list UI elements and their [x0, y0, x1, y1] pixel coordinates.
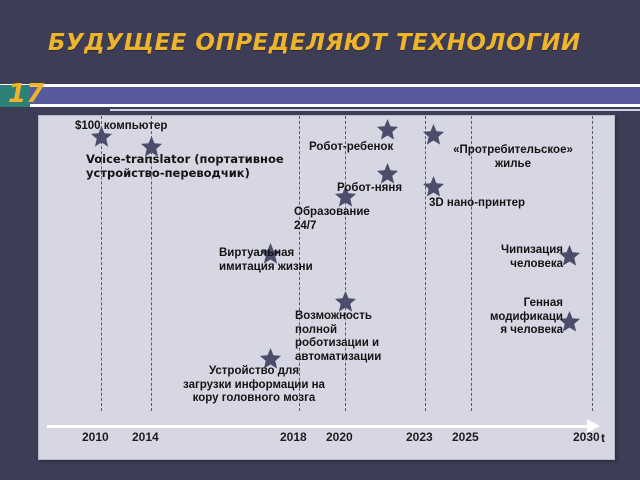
event-label-robot-nanny: Робот-няня [337, 182, 402, 196]
gridline-2023 [425, 116, 426, 411]
event-label-voice-translator: Voice-translator (портативное устройство… [86, 153, 336, 180]
axis-tick-2020: 2020 [326, 430, 353, 444]
brain-upload-line-3: кору головного мозга [193, 392, 316, 404]
axis-tick-2018: 2018 [280, 430, 307, 444]
brain-upload-line-2: загрузки информации на [183, 379, 325, 391]
voice-translator-line-2: устройство-переводчик) [86, 166, 250, 180]
event-label-brain-upload: Устройство для загрузки информации на ко… [134, 365, 374, 406]
event-label-consumer-housing: «Протребительское» жилье [433, 144, 593, 171]
chipization-line-1: Чипизация [501, 244, 563, 256]
event-label-gene-modification: Генная модификаци я человека [443, 297, 563, 338]
event-label-100-computer: $100 компьютер [75, 120, 167, 134]
timeline-chart-panel: $100 компьютер Voice-translator (портати… [38, 115, 615, 460]
voice-translator-line-1: Voice-translator (портативное [86, 152, 284, 166]
consumer-housing-line-2: жилье [495, 158, 531, 170]
page-title: БУДУЩЕЕ ОПРЕДЕЛЯЮТ ТЕХНОЛОГИИ [48, 30, 588, 56]
gene-modification-line-2: модификаци [490, 311, 563, 323]
time-axis-line [47, 425, 590, 428]
event-label-chipization: Чипизация человека [443, 244, 563, 271]
education-line-2: 24/7 [294, 220, 316, 232]
education-line-1: Образование [294, 206, 370, 218]
chipization-line-2: человека [510, 258, 563, 270]
header-rule-thin [110, 109, 640, 111]
slide-number: 17 [8, 81, 44, 107]
event-label-robot-child: Робот-ребенок [309, 141, 393, 155]
robotization-line-4: автоматизации [295, 351, 381, 363]
event-label-education: Образование 24/7 [294, 206, 404, 233]
robotization-line-1: Возможность [295, 310, 372, 322]
virtual-life-line-1: Виртуальная [219, 247, 294, 259]
axis-variable-label: t [601, 431, 605, 445]
event-label-robotization: Возможность полной роботизации и автомат… [295, 310, 400, 364]
axis-tick-2010: 2010 [82, 430, 109, 444]
axis-tick-2023: 2023 [406, 430, 433, 444]
axis-tick-2030: 2030 [573, 430, 600, 444]
axis-tick-2025: 2025 [452, 430, 479, 444]
header-band [0, 87, 640, 104]
brain-upload-line-1: Устройство для [209, 365, 299, 377]
gene-modification-line-3: я человека [500, 324, 563, 336]
event-label-nano-printer: 3D нано-принтер [429, 197, 525, 211]
robotization-line-2: полной [295, 324, 337, 336]
robotization-line-3: роботизации и [295, 337, 379, 349]
axis-tick-2014: 2014 [132, 430, 159, 444]
consumer-housing-line-1: «Протребительское» [453, 144, 573, 156]
header-rule-bottom [0, 104, 640, 107]
gene-modification-line-1: Генная [524, 297, 563, 309]
virtual-life-line-2: имитация жизни [219, 261, 313, 273]
event-label-virtual-life: Виртуальная имитация жизни [219, 247, 349, 274]
